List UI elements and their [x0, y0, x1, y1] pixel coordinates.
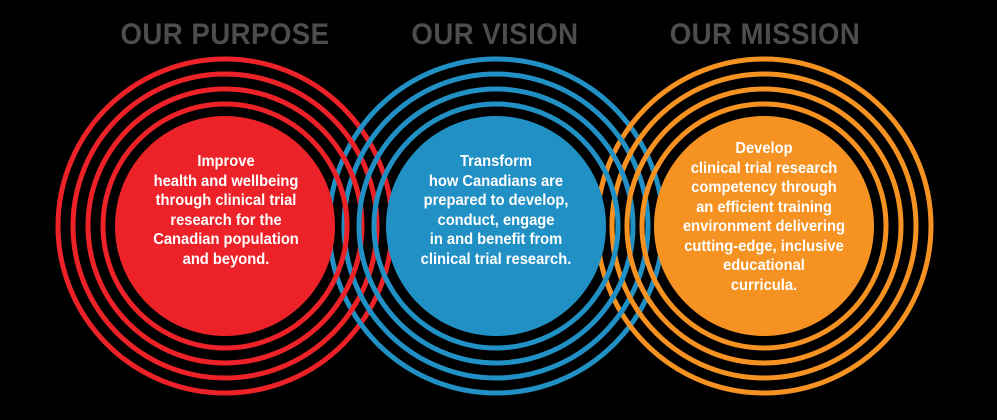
heading-our-purpose: OUR PURPOSE [87, 18, 363, 52]
purpose-statement-text: Improve health and wellbeing through cli… [121, 152, 332, 269]
heading-our-vision: OUR VISION [357, 18, 633, 52]
mission-statement-text: Develop clinical trial research competen… [656, 139, 873, 295]
vision-statement-text: Transform how Canadians are prepared to … [391, 152, 602, 269]
infographic-canvas: OUR PURPOSE OUR VISION OUR MISSION Impro… [0, 0, 997, 420]
heading-our-mission: OUR MISSION [627, 18, 903, 52]
